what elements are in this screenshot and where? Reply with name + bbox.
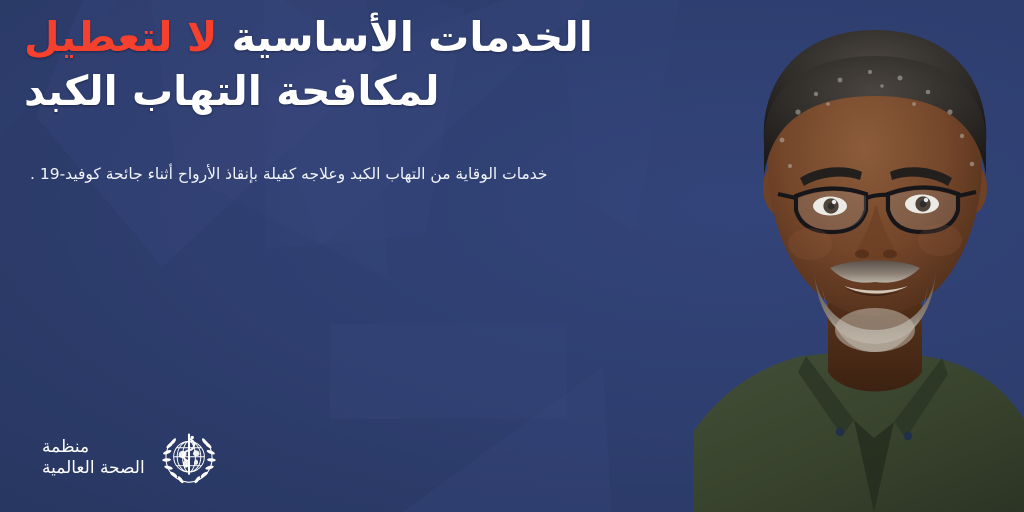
headline-line-2: لمكافحة التهاب الكبد: [24, 66, 724, 116]
headline-accent: لا لتعطيل: [24, 13, 217, 61]
headline-line-1: الخدمات الأساسية لا لتعطيل: [24, 12, 724, 62]
headline-rest: الخدمات الأساسية: [232, 13, 593, 61]
who-wordmark-line-2: الصحة العالمية: [42, 458, 145, 479]
who-logo: منظمة الصحة العالمية: [42, 426, 221, 490]
subtitle-text: خدمات الوقاية من التهاب الكبد وعلاجه كفي…: [30, 163, 724, 185]
who-wordmark-line-1: منظمة: [42, 437, 89, 458]
who-wordmark: منظمة الصحة العالمية: [42, 437, 145, 480]
who-hepatitis-campaign-banner: الخدمات الأساسية لا لتعطيل لمكافحة التها…: [0, 0, 1024, 512]
who-emblem-icon: [157, 426, 221, 490]
headline-block: الخدمات الأساسية لا لتعطيل لمكافحة التها…: [24, 12, 724, 116]
